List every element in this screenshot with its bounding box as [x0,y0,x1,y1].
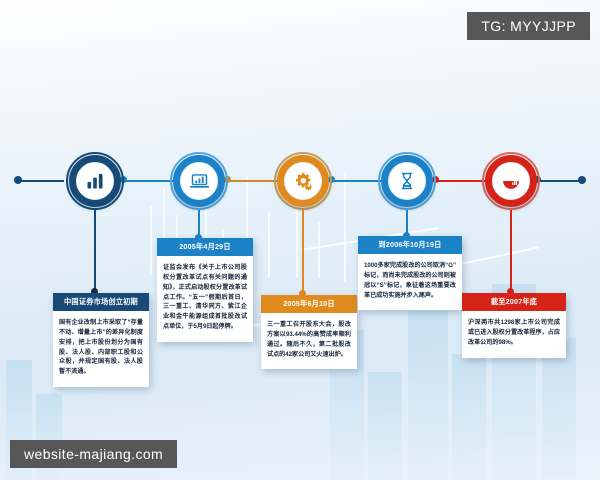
card-header-1: 中国证券市场创立初期 [53,293,149,311]
timeline-card-3[interactable]: 2005年6月10日 三一重工召开股东大会，股改方案以93.44%的高赞成率顺利… [261,295,357,369]
timeline-segment-right-end [536,180,582,182]
hourglass-icon [397,171,417,191]
laptop-chart-icon [189,171,210,192]
card-header-3: 2005年6月10日 [261,295,357,313]
timeline-segment-left-end [18,180,64,182]
card-body-3: 三一重工召开股东大会，股改方案以93.44%的高赞成率顺利通过。随后不久，第二批… [261,313,357,369]
timeline-card-1[interactable]: 中国证券市场创立初期 国有企业改制上市采取了“存量不动、增量上市”的差异化制度安… [53,293,149,387]
infographic-canvas: 中国证券市场创立初期 国有企业改制上市采取了“存量不动、增量上市”的差异化制度安… [0,0,600,480]
connector-5 [510,210,512,292]
node-icon-well [181,163,217,199]
card-header-5: 截至2007年底 [462,293,566,311]
node-icon-well [77,163,113,199]
card-body-5: 沪深两市共1298家上市公司完成或已进入股权分置改革程序，占应改革公司的98%。 [462,311,566,358]
node-icon-well [389,163,425,199]
timeline-node-3[interactable] [274,152,332,210]
timeline-card-5[interactable]: 截至2007年底 沪深两市共1298家上市公司完成或已进入股权分置改革程序，占应… [462,293,566,358]
pie-chart-icon [501,171,521,191]
gears-icon [293,171,314,192]
watermark-top-right: TG: MYYJJPP [467,12,590,40]
node-icon-well [285,163,321,199]
timeline-card-4[interactable]: 到2006年10月19日 1000多家完成股改的公司取消“G”标记，而尚未完成股… [358,236,462,310]
card-header-2: 2005年4月29日 [157,238,253,256]
timeline-node-1[interactable] [66,152,124,210]
timeline-node-2[interactable] [170,152,228,210]
watermark-bottom-left: website-majiang.com [10,440,177,468]
card-body-1: 国有企业改制上市采取了“存量不动、增量上市”的差异化制度安排，把上市股份划分为国… [53,311,149,387]
timeline-node-4[interactable] [378,152,436,210]
card-header-4: 到2006年10月19日 [358,236,462,254]
timeline-endcap-right [578,176,586,184]
card-body-4: 1000多家完成股改的公司取消“G”标记，而尚未完成股改的公司则被冠以“S”标记… [358,254,462,310]
timeline-node-5[interactable] [482,152,540,210]
connector-1 [94,210,96,292]
card-body-2: 证监会发布《关于上市公司股权分置改革试点有关问题的通知》，正式启动股权分置改革试… [157,256,253,342]
timeline-endcap-left [14,176,22,184]
connector-3 [302,210,304,294]
node-icon-well [493,163,529,199]
bar-chart-icon [85,171,105,191]
timeline-card-2[interactable]: 2005年4月29日 证监会发布《关于上市公司股权分置改革试点有关问题的通知》，… [157,238,253,342]
